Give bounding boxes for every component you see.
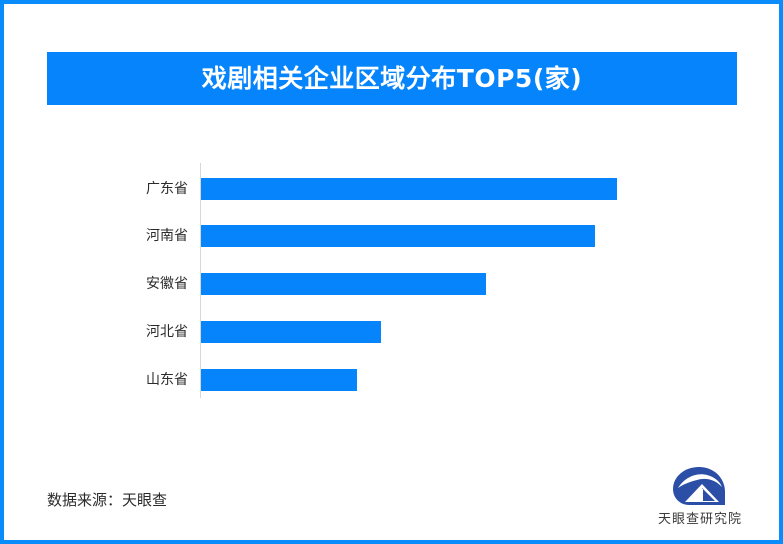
bar-shandong[interactable]	[201, 369, 357, 391]
bar-row[interactable]: 河北省	[47, 321, 737, 343]
bar-track	[201, 225, 671, 247]
bar-row[interactable]: 山东省	[47, 369, 737, 391]
bar-anhui[interactable]	[201, 273, 486, 295]
page-title: 戏剧相关企业区域分布TOP5(家)	[202, 66, 582, 91]
infographic-card: 戏剧相关企业区域分布TOP5(家) 广东省 河南省 安徽省	[0, 0, 783, 544]
bar-row[interactable]: 广东省	[47, 178, 737, 200]
category-label: 河北省	[107, 321, 188, 343]
brand-logo: 天眼查研究院	[650, 466, 750, 528]
category-label: 山东省	[107, 369, 188, 391]
bar-row[interactable]: 安徽省	[47, 273, 737, 295]
bar-chart: 广东省 河南省 安徽省 河北省	[47, 150, 737, 415]
data-source-label: 数据来源：天眼查	[47, 489, 167, 510]
tianyancha-eye-mountain-icon	[672, 466, 726, 506]
bar-guangdong[interactable]	[201, 178, 617, 200]
title-banner: 戏剧相关企业区域分布TOP5(家)	[47, 52, 737, 105]
bar-track	[201, 321, 671, 343]
category-label: 安徽省	[107, 273, 188, 295]
bar-row[interactable]: 河南省	[47, 225, 737, 247]
bar-track	[201, 369, 671, 391]
brand-wordmark: 天眼查研究院	[650, 508, 750, 527]
bar-track	[201, 178, 671, 200]
category-label: 河南省	[107, 225, 188, 247]
bar-rows: 广东省 河南省 安徽省 河北省	[47, 150, 737, 415]
category-label: 广东省	[107, 178, 188, 200]
bar-henan[interactable]	[201, 225, 595, 247]
bar-track	[201, 273, 671, 295]
bar-hebei[interactable]	[201, 321, 381, 343]
